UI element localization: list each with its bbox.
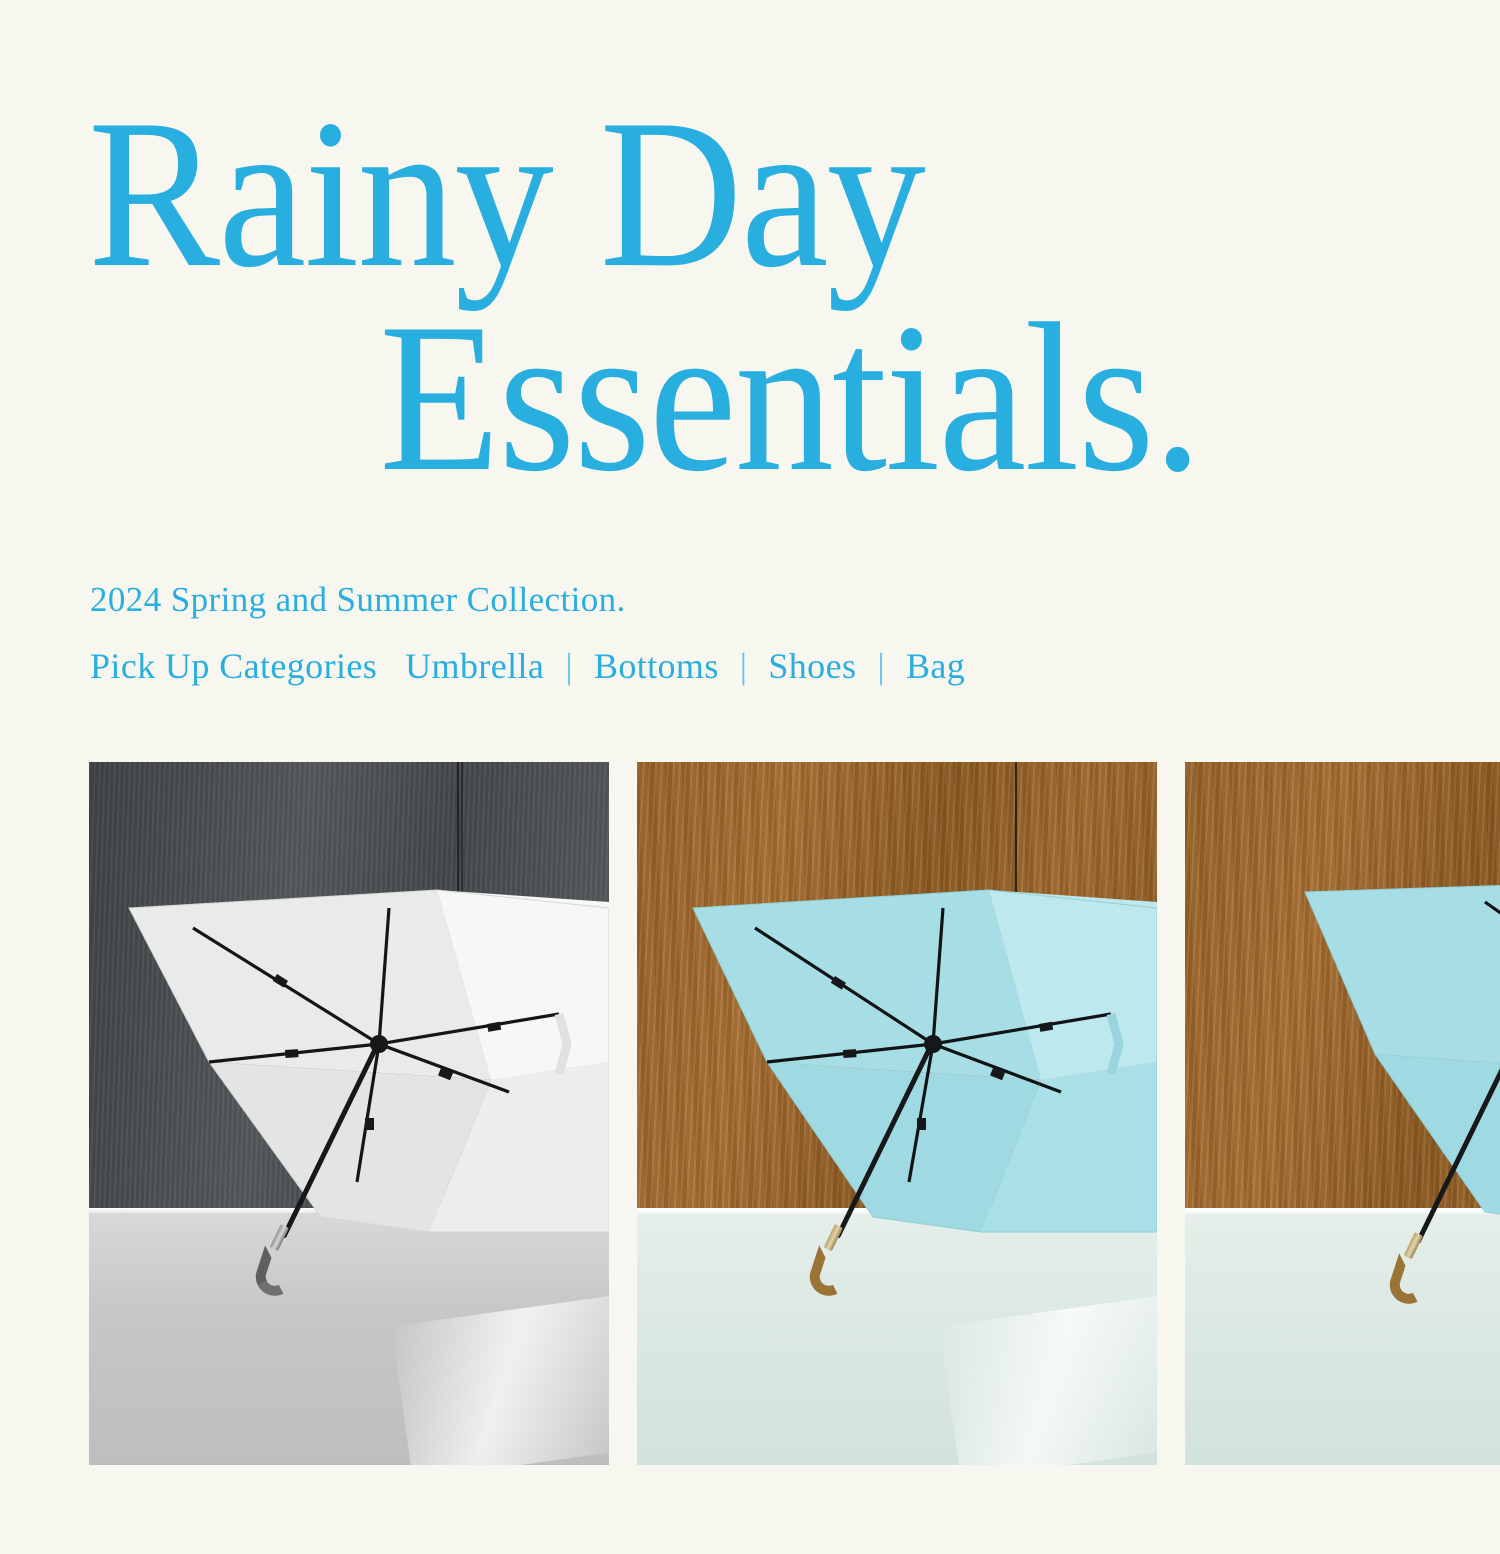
category-separator: | [565,645,573,687]
category-nav-label: Pick Up Categories [90,645,377,687]
category-nav: Pick Up Categories Umbrella | Bottoms | … [90,645,965,687]
carousel-slide-umbrella-white-monochrome[interactable] [89,762,609,1465]
umbrella-canopy [89,762,609,1465]
carousel-slide-umbrella-aqua-wood-wall-cropped[interactable] [1185,762,1500,1465]
category-link-bag[interactable]: Bag [906,645,965,687]
page-title-line-1: Rainy Day [88,92,1401,296]
carousel-slide-umbrella-aqua-wood-wall[interactable] [637,762,1157,1465]
collection-subtitle: 2024 Spring and Summer Collection. [90,580,626,620]
category-link-shoes[interactable]: Shoes [768,645,856,687]
page-title-line-2: Essentials. [187,296,1500,500]
category-link-umbrella[interactable]: Umbrella [405,645,544,687]
product-image-carousel[interactable] [89,762,1500,1465]
hero-section: Rainy Day Essentials. 2024 Spring and Su… [0,0,1500,501]
category-separator: | [740,645,748,687]
umbrella-canopy [1185,762,1500,1465]
page-title: Rainy Day Essentials. [0,0,1500,501]
category-separator: | [877,645,885,687]
category-link-bottoms[interactable]: Bottoms [594,645,719,687]
